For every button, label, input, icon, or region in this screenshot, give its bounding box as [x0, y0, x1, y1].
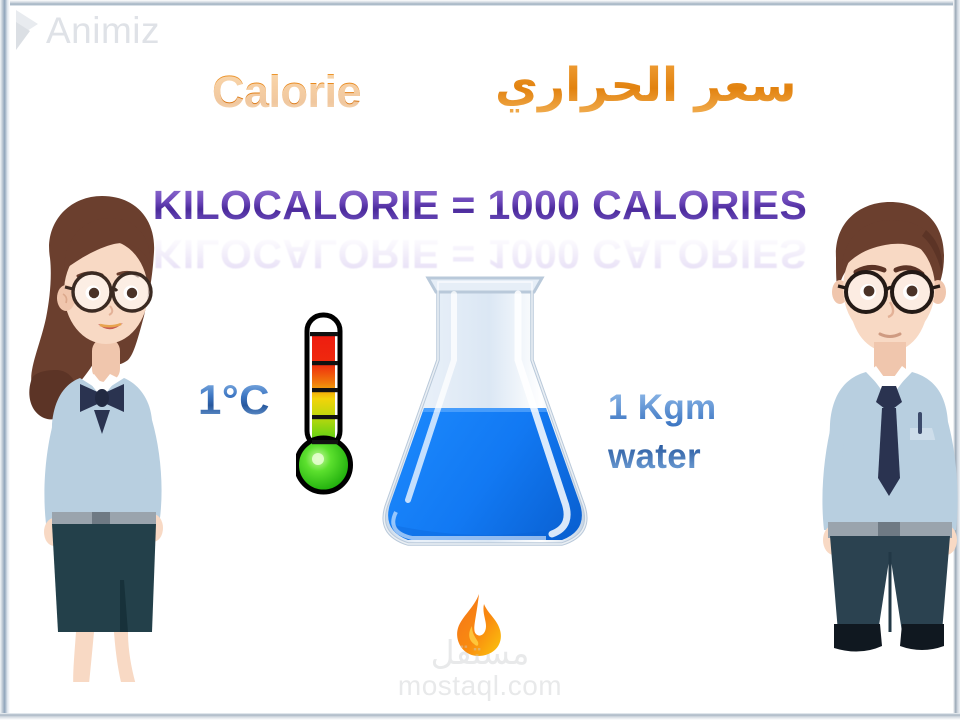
slide-border-bottom [0, 713, 960, 720]
slide-border-top [0, 0, 960, 6]
water-mass-line1: 1 Kgm [608, 388, 716, 427]
thermometer-icon [296, 312, 360, 502]
temperature-label: 1°C [198, 378, 270, 422]
page-title-arabic: سعر الحراري [495, 58, 796, 113]
man-teacher-character [806, 196, 960, 668]
page-title-english: Calorie [212, 66, 361, 118]
woman-teacher-character [6, 188, 192, 682]
animiz-wordmark: Animiz [46, 12, 160, 49]
water-mass-line2: water [608, 439, 716, 476]
animiz-watermark: Animiz [14, 8, 160, 52]
slide-canvas: Animiz Calorie سعر الحراري KILOCALORIE =… [0, 0, 960, 720]
water-mass-label: 1 Kgm water [608, 390, 716, 476]
play-triangle-icon [14, 8, 40, 52]
flame-icon [446, 592, 510, 660]
erlenmeyer-flask-icon [368, 268, 602, 570]
